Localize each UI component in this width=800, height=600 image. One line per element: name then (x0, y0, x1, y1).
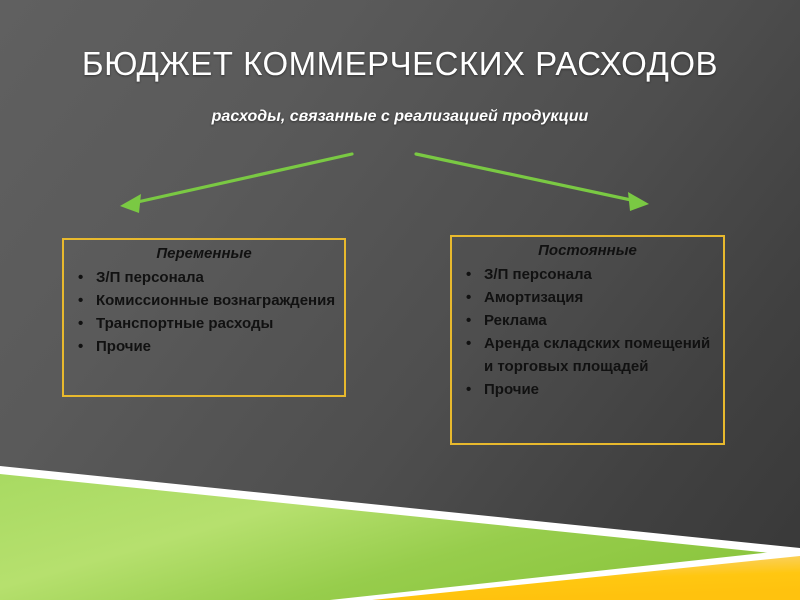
bullet-icon: • (78, 289, 83, 312)
bullet-icon: • (466, 286, 471, 309)
bullet-icon: • (466, 263, 471, 286)
list-item: • Прочие (76, 335, 340, 358)
bullet-icon: • (78, 266, 83, 289)
decor-white-band-upper (0, 466, 800, 600)
bullet-icon: • (466, 378, 471, 401)
slide-canvas: Бюджет коммерческих расходов расходы, св… (0, 0, 800, 600)
list-item-label: З/П персонала (484, 266, 592, 283)
variable-costs-list: • З/П персонала • Комиссионные вознаграж… (62, 266, 346, 358)
list-item-label: Комиссионные вознаграждения (96, 292, 335, 309)
list-item: • Прочие (464, 378, 719, 401)
list-item: • Транспортные расходы (76, 312, 340, 335)
list-item-label: Прочие (484, 381, 539, 398)
list-item: • Аренда складских помещений и торговых … (464, 332, 719, 378)
variable-costs-heading: Переменные (62, 243, 346, 265)
list-item: • З/П персонала (464, 263, 719, 286)
list-item-label: Аренда складских помещений и торговых пл… (484, 335, 710, 375)
list-item: • Амортизация (464, 286, 719, 309)
bullet-icon: • (466, 309, 471, 332)
list-item: • З/П персонала (76, 266, 340, 289)
list-item-label: Транспортные расходы (96, 315, 273, 332)
bullet-icon: • (466, 332, 471, 355)
list-item-label: Реклама (484, 312, 547, 329)
arrow-to-fixed-costs-shaft (416, 154, 636, 201)
arrow-to-variable-costs-shaft (133, 154, 352, 203)
decor-gray-notch (640, 462, 800, 600)
decor-green-wedge (0, 474, 800, 600)
page-subtitle: расходы, связанные с реализацией продукц… (0, 106, 800, 128)
page-title: Бюджет коммерческих расходов (0, 44, 800, 84)
list-item-label: З/П персонала (96, 269, 204, 286)
decor-white-band-lower (330, 549, 800, 600)
list-item: • Комиссионные вознаграждения (76, 289, 340, 312)
fixed-costs-list: • З/П персонала • Амортизация • Реклама … (450, 263, 725, 401)
fixed-costs-content: Постоянные • З/П персонала • Амортизация… (450, 240, 725, 401)
arrow-to-fixed-costs-head (628, 192, 649, 211)
arrow-to-variable-costs-head (120, 194, 141, 213)
bullet-icon: • (78, 312, 83, 335)
variable-costs-content: Переменные • З/П персонала • Комиссионны… (62, 243, 346, 358)
fixed-costs-heading: Постоянные (450, 240, 725, 262)
list-item-label: Амортизация (484, 289, 583, 306)
arrow-group (120, 154, 649, 213)
list-item-label: Прочие (96, 338, 151, 355)
list-item: • Реклама (464, 309, 719, 332)
bullet-icon: • (78, 335, 83, 358)
decor-yellow-wedge (372, 556, 800, 600)
